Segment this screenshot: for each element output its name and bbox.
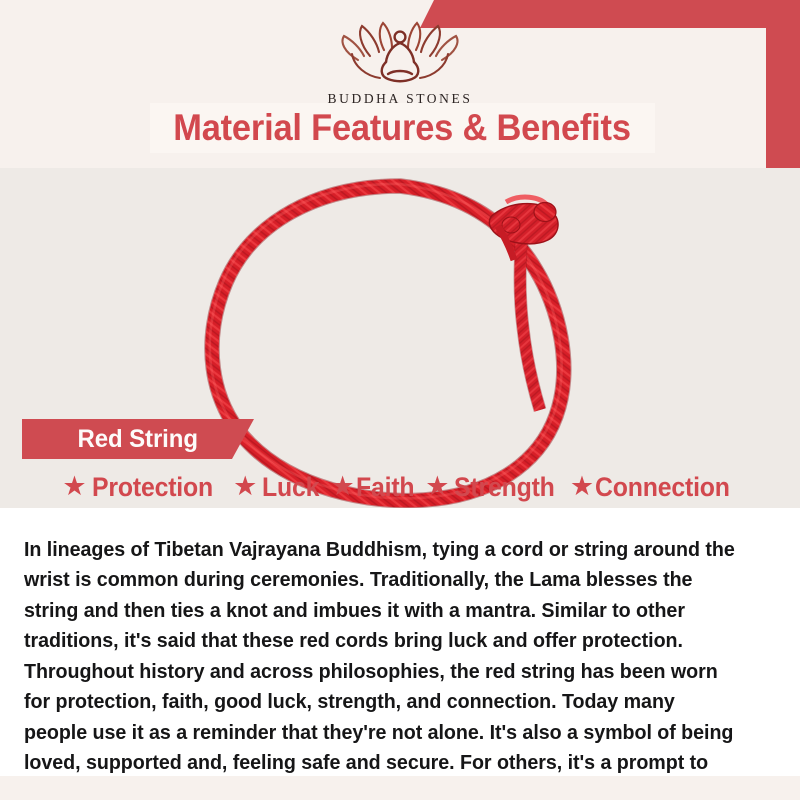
benefit-label: Protection [92,472,213,503]
title-banner: Material Features & Benefits [150,103,655,153]
description-text: In lineages of Tibetan Vajrayana Buddhis… [24,535,742,800]
bottom-cream-strip [0,776,800,800]
infographic-poster: BUDDHA STONES Material Features & Benefi… [0,0,800,800]
benefit-label: Luck [262,472,319,503]
benefit-item-strength: ★ Strength [425,472,564,503]
product-tag: Red String [22,419,254,459]
benefits-list: ★ Protection ★ Luck ★ Faith ★ Strength ★… [0,467,800,507]
benefit-item-protection: ★ Protection [62,472,223,503]
star-icon: ★ [331,473,355,500]
star-icon: ★ [62,473,86,500]
brand-name: BUDDHA STONES [0,91,800,107]
star-icon: ★ [570,473,594,500]
star-icon: ★ [425,473,449,500]
star-icon: ★ [233,473,257,500]
benefit-item-faith: ★ Faith [331,472,420,503]
brand-logo: BUDDHA STONES [0,16,800,107]
benefit-label: Strength [454,472,555,503]
description-panel: In lineages of Tibetan Vajrayana Buddhis… [0,508,800,776]
product-tag-label: Red String [78,425,198,454]
lotus-meditation-icon [330,16,470,90]
benefit-item-connection: ★ Connection [570,472,742,503]
benefit-label: Connection [595,472,730,503]
benefit-item-luck: ★ Luck [233,472,324,503]
page-title: Material Features & Benefits [174,107,632,149]
benefit-label: Faith [356,472,414,503]
